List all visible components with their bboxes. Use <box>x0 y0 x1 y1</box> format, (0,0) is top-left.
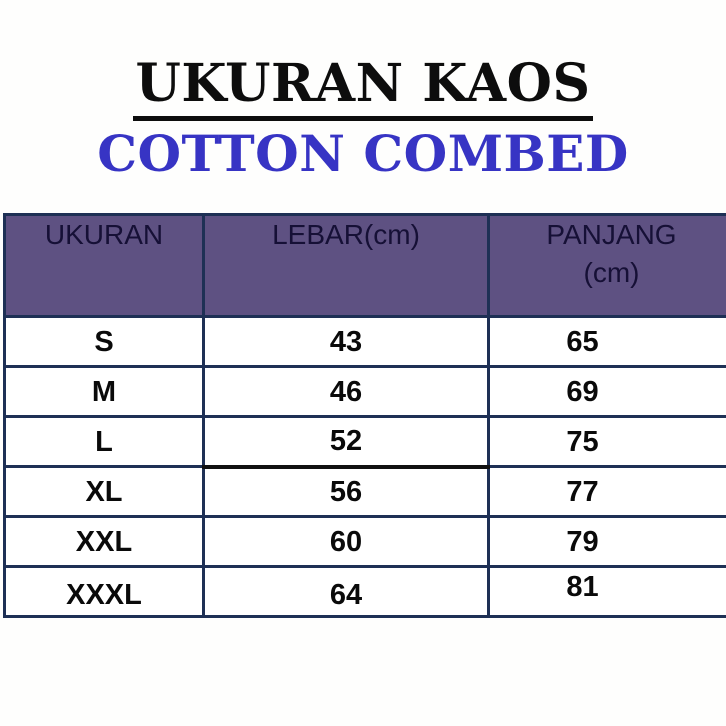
cell-lebar: 64 <box>204 567 489 617</box>
table-header-row: UKURAN LEBAR(cm) PANJANG (cm) <box>5 215 726 317</box>
size-chart-sheet: UKURAN KAOS COTTON COMBED UKURAN LEBAR(c… <box>0 0 726 726</box>
cell-lebar: 52 <box>204 417 489 467</box>
cell-ukuran: S <box>5 317 204 367</box>
cell-lebar: 43 <box>204 317 489 367</box>
column-header-lebar: LEBAR(cm) <box>204 215 489 317</box>
page-subtitle: COTTON COMBED <box>0 127 726 181</box>
cell-panjang: 79 <box>489 517 726 567</box>
cell-panjang: 77 <box>489 467 726 517</box>
table-row: XXL 60 79 <box>5 517 726 567</box>
cell-panjang: 75 <box>489 417 726 467</box>
table-header: UKURAN LEBAR(cm) PANJANG (cm) <box>5 215 726 317</box>
table-row: XL 56 77 <box>5 467 726 517</box>
cell-panjang: 65 <box>489 317 726 367</box>
title-block: UKURAN KAOS COTTON COMBED <box>0 56 726 181</box>
table-row: M 46 69 <box>5 367 726 417</box>
cell-panjang: 81 <box>489 567 726 617</box>
cell-ukuran: XL <box>5 467 204 517</box>
cell-lebar: 56 <box>204 467 489 517</box>
cell-ukuran: L <box>5 417 204 467</box>
table-row: L 52 75 <box>5 417 726 467</box>
cell-ukuran: XXL <box>5 517 204 567</box>
cell-ukuran: M <box>5 367 204 417</box>
column-header-ukuran-label: UKURAN <box>6 216 202 254</box>
page-title: UKURAN KAOS <box>133 56 592 121</box>
cell-lebar: 60 <box>204 517 489 567</box>
column-header-panjang-label: PANJANG <box>490 216 726 254</box>
column-header-panjang: PANJANG (cm) <box>489 215 726 317</box>
column-header-panjang-unit: (cm) <box>490 254 726 292</box>
cell-lebar: 46 <box>204 367 489 417</box>
cell-panjang: 69 <box>489 367 726 417</box>
column-header-ukuran: UKURAN <box>5 215 204 317</box>
table-body: S 43 65 M 46 69 L 52 75 XL 56 77 XXL 60 <box>5 317 726 617</box>
table-row: XXXL 64 81 <box>5 567 726 617</box>
table-row: S 43 65 <box>5 317 726 367</box>
column-header-lebar-label: LEBAR(cm) <box>205 216 487 254</box>
size-table: UKURAN LEBAR(cm) PANJANG (cm) S 43 65 M … <box>3 213 726 618</box>
cell-ukuran: XXXL <box>5 567 204 617</box>
